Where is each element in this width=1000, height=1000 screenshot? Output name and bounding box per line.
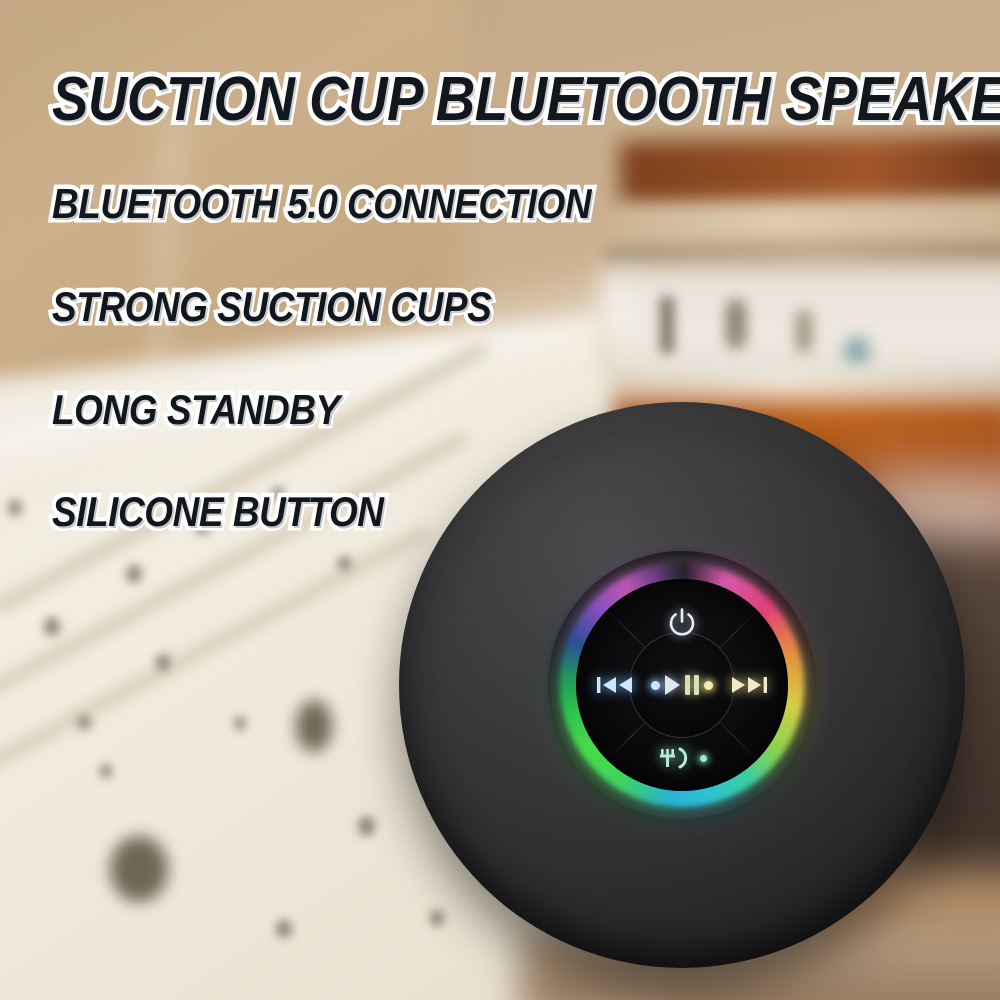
background-shelf-top bbox=[612, 203, 1000, 239]
feature-item-3: SILICONE BUTTON bbox=[52, 488, 384, 536]
phone-call-icon bbox=[658, 745, 692, 771]
feature-item-2: LONG STANDBY bbox=[52, 386, 340, 434]
feature-item-1: STRONG SUCTION CUPS bbox=[52, 283, 491, 331]
tub-speck bbox=[156, 654, 170, 671]
background-wood-shelf bbox=[619, 134, 1000, 204]
indicator-dot-green bbox=[700, 755, 707, 762]
power-icon bbox=[665, 606, 699, 640]
tub-speck bbox=[430, 910, 444, 926]
background-bottle bbox=[796, 310, 812, 352]
control-panel-face bbox=[576, 579, 788, 791]
tub-speck bbox=[338, 556, 351, 571]
call-button[interactable] bbox=[652, 743, 712, 773]
background-faucet bbox=[660, 296, 674, 354]
power-button[interactable] bbox=[664, 605, 700, 641]
pause-icon bbox=[685, 675, 699, 695]
play-icon bbox=[665, 675, 680, 695]
indicator-dot-yellow bbox=[704, 681, 713, 690]
next-track-button[interactable] bbox=[728, 672, 770, 698]
tub-speck bbox=[276, 920, 292, 938]
control-panel-bezel bbox=[548, 551, 816, 819]
tub-speck bbox=[126, 565, 142, 583]
indicator-dot-blue bbox=[651, 681, 660, 690]
next-track-icon bbox=[729, 673, 769, 697]
play-pause-button[interactable] bbox=[643, 673, 721, 697]
product-banner: SUCTION CUP BLUETOOTH SPEAKER BLUETOOTH … bbox=[0, 0, 1000, 1000]
tub-speck bbox=[110, 836, 168, 902]
bluetooth-speaker[interactable] bbox=[399, 402, 965, 968]
background-faucet-spout bbox=[726, 300, 746, 348]
feature-item-0: BLUETOOTH 5.0 CONNECTION bbox=[52, 180, 591, 228]
tub-speck bbox=[8, 500, 22, 516]
background-soap-dispenser bbox=[846, 338, 868, 364]
page-title: SUCTION CUP BLUETOOTH SPEAKER bbox=[52, 64, 1000, 135]
tub-speck bbox=[234, 716, 246, 730]
tub-speck bbox=[44, 617, 60, 636]
tub-speck bbox=[100, 764, 112, 778]
tub-speck bbox=[78, 715, 91, 730]
previous-track-icon bbox=[595, 673, 635, 697]
tub-speck bbox=[358, 816, 375, 836]
previous-track-button[interactable] bbox=[594, 672, 636, 698]
tub-speck bbox=[296, 700, 332, 752]
